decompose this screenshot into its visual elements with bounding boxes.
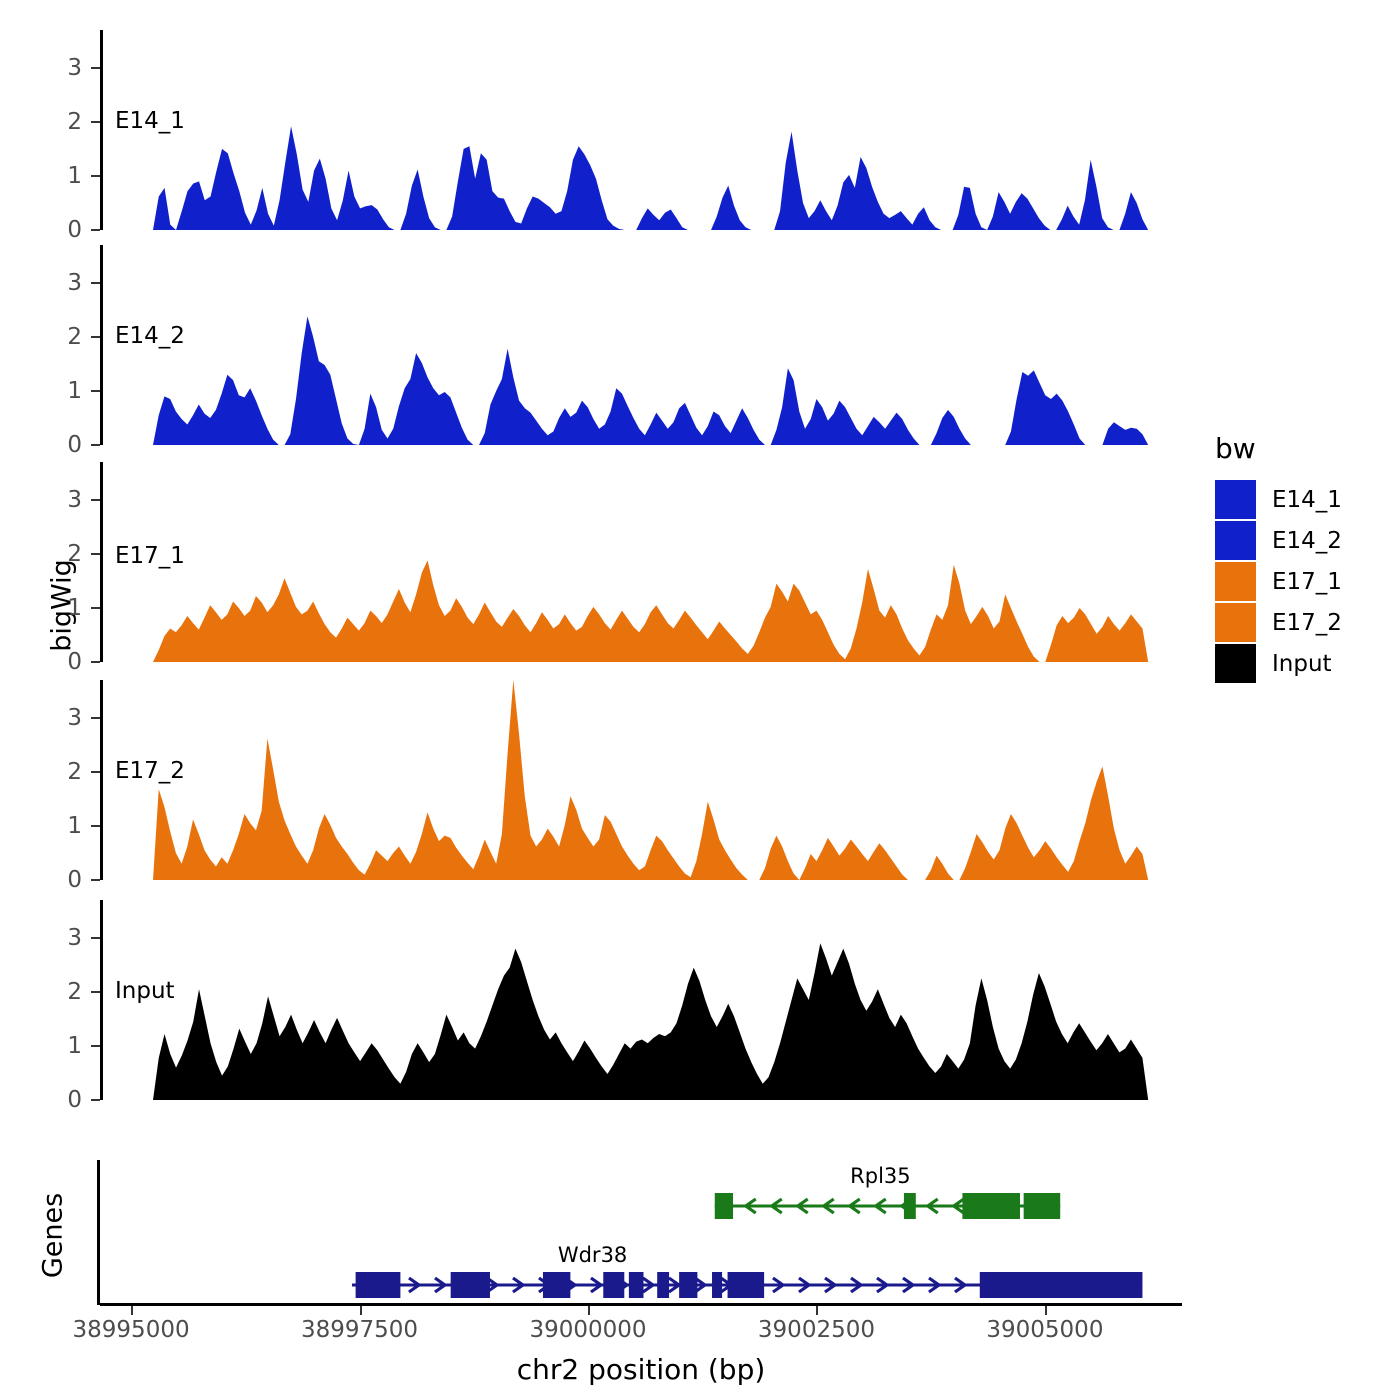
gene-exon xyxy=(679,1272,697,1298)
coverage-plot-area xyxy=(103,680,1185,880)
legend-entry-label: E17_2 xyxy=(1272,610,1342,636)
y-tick xyxy=(91,67,100,69)
x-tick xyxy=(588,1306,590,1315)
y-tick-label: 2 xyxy=(38,541,82,567)
y-tick xyxy=(91,390,100,392)
legend-color-swatch xyxy=(1215,562,1256,601)
y-tick xyxy=(91,1045,100,1047)
legend-entry-label: Input xyxy=(1272,651,1332,677)
y-tick-label: 3 xyxy=(38,705,82,731)
coverage-plot-area xyxy=(103,900,1185,1100)
coverage-area xyxy=(153,943,1148,1100)
y-tick xyxy=(91,661,100,663)
legend-entry-label: E17_1 xyxy=(1272,569,1342,595)
legend-color-swatch xyxy=(1215,644,1256,683)
coverage-plot-area xyxy=(103,462,1185,662)
x-tick-label: 38995000 xyxy=(73,1317,190,1343)
coverage-area xyxy=(153,316,1148,445)
y-tick-label: 1 xyxy=(38,595,82,621)
y-tick xyxy=(91,937,100,939)
y-tick xyxy=(91,121,100,123)
x-tick-label: 39000000 xyxy=(529,1317,646,1343)
y-axis-title-genes: Genes xyxy=(38,1161,69,1311)
x-tick xyxy=(816,1306,818,1315)
legend: bw E14_1E14_2E17_1E17_2Input xyxy=(1215,432,1342,684)
track-panel-e17_1: 0123E17_1 xyxy=(100,462,1185,662)
genome-browser-figure: bigWig Genes 0123E14_1 0123E14_2 0123E17… xyxy=(0,0,1400,1400)
y-tick xyxy=(91,1099,100,1101)
y-tick-label: 1 xyxy=(38,378,82,404)
track-panel-e14_1: 0123E14_1 xyxy=(100,30,1185,230)
legend-entry-e14_2[interactable]: E14_2 xyxy=(1215,520,1342,561)
coverage-area xyxy=(153,126,1148,230)
legend-entry-e17_2[interactable]: E17_2 xyxy=(1215,602,1342,643)
coverage-area xyxy=(153,680,1148,880)
y-tick-label: 0 xyxy=(38,217,82,243)
gene-exon xyxy=(980,1272,1143,1298)
y-tick xyxy=(91,553,100,555)
y-tick-label: 2 xyxy=(38,324,82,350)
y-tick-label: 0 xyxy=(38,432,82,458)
y-tick xyxy=(91,336,100,338)
legend-color-swatch xyxy=(1215,480,1256,519)
y-tick-label: 2 xyxy=(38,109,82,135)
y-tick xyxy=(91,444,100,446)
gene-exon xyxy=(603,1272,624,1298)
legend-color-swatch xyxy=(1215,521,1256,560)
x-tick-label: 38997500 xyxy=(301,1317,418,1343)
gene-label-wdr38: Wdr38 xyxy=(558,1243,627,1267)
legend-entry-e14_1[interactable]: E14_1 xyxy=(1215,479,1342,520)
y-tick-label: 2 xyxy=(38,979,82,1005)
coverage-area xyxy=(153,560,1148,662)
legend-entry-label: E14_2 xyxy=(1272,528,1342,554)
gene-exon xyxy=(712,1272,722,1298)
legend-color-swatch xyxy=(1215,603,1256,642)
y-tick-label: 3 xyxy=(38,55,82,81)
y-tick-label: 3 xyxy=(38,270,82,296)
x-axis: 3899500038997500390000003900250039005000… xyxy=(100,1303,1182,1393)
y-tick-label: 2 xyxy=(38,759,82,785)
gene-exon xyxy=(715,1193,733,1219)
gene-exon xyxy=(962,1193,1020,1219)
legend-title: bw xyxy=(1215,432,1342,465)
y-tick xyxy=(91,175,100,177)
track-panel-e14_2: 0123E14_2 xyxy=(100,245,1185,445)
x-tick xyxy=(1045,1306,1047,1315)
y-tick xyxy=(91,229,100,231)
coverage-plot-area xyxy=(103,30,1185,230)
x-tick xyxy=(131,1306,133,1315)
genes-plot-area: Rpl35Wdr38 xyxy=(100,1160,1182,1305)
y-tick xyxy=(91,499,100,501)
track-panel-e17_2: 0123E17_2 xyxy=(100,680,1185,880)
y-tick xyxy=(91,825,100,827)
gene-exon xyxy=(543,1272,570,1298)
y-tick-label: 3 xyxy=(38,487,82,513)
coverage-plot-area xyxy=(103,245,1185,445)
y-tick-label: 1 xyxy=(38,813,82,839)
y-tick-label: 0 xyxy=(38,649,82,675)
gene-exon xyxy=(728,1272,765,1298)
gene-exon xyxy=(657,1272,669,1298)
gene-exon xyxy=(356,1272,401,1298)
legend-entry-input[interactable]: Input xyxy=(1215,643,1342,684)
gene-label-rpl35: Rpl35 xyxy=(850,1164,910,1188)
y-tick xyxy=(91,607,100,609)
legend-entry-label: E14_1 xyxy=(1272,487,1342,513)
x-axis-title: chr2 position (bp) xyxy=(100,1353,1182,1386)
y-tick-label: 0 xyxy=(38,867,82,893)
track-panel-input: 0123Input xyxy=(100,900,1185,1100)
y-tick xyxy=(91,991,100,993)
y-tick-label: 1 xyxy=(38,1033,82,1059)
genes-panel: Rpl35Wdr38 xyxy=(97,1160,1182,1305)
y-tick xyxy=(91,282,100,284)
x-axis-line xyxy=(100,1303,1182,1306)
x-tick xyxy=(360,1306,362,1315)
legend-entry-e17_1[interactable]: E17_1 xyxy=(1215,561,1342,602)
y-tick xyxy=(91,771,100,773)
gene-exon xyxy=(904,1193,916,1219)
y-tick xyxy=(91,717,100,719)
legend-entry-list: E14_1E14_2E17_1E17_2Input xyxy=(1215,479,1342,684)
x-tick-label: 39002500 xyxy=(758,1317,875,1343)
gene-exon xyxy=(1024,1193,1061,1219)
gene-exon xyxy=(451,1272,490,1298)
x-tick-label: 39005000 xyxy=(986,1317,1103,1343)
y-tick xyxy=(91,879,100,881)
y-tick-label: 0 xyxy=(38,1087,82,1113)
gene-exon xyxy=(629,1272,644,1298)
y-tick-label: 3 xyxy=(38,925,82,951)
y-tick-label: 1 xyxy=(38,163,82,189)
